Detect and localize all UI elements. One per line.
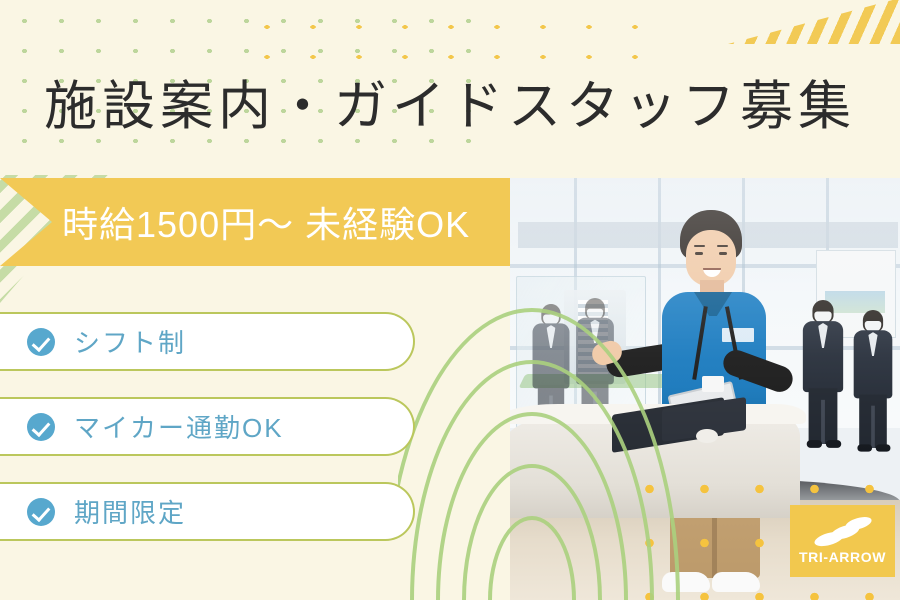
feature-pill-car-commute: マイカー通勤OK [0,397,415,456]
wage-ribbon: 時給1500円〜 未経験OK [0,178,510,266]
check-circle-icon [27,328,55,356]
company-logo-text: TRI-ARROW [799,549,886,565]
company-logo: TRI-ARROW [790,505,895,577]
recruitment-banner: 施設案内・ガイドスタッフ募集 [0,0,900,600]
photo-counter-knob [696,429,718,443]
feature-label: マイカー通勤OK [74,408,284,445]
feature-pill-limited-period: 期間限定 [0,482,415,541]
page-title: 施設案内・ガイドスタッフ募集 [44,80,856,133]
wage-ribbon-text: 時給1500円〜 未経験OK [62,196,470,248]
yellow-dot-pattern [240,8,660,68]
check-circle-icon [27,498,55,526]
corner-stripes-decoration [728,0,900,44]
feature-pill-shift: シフト制 [0,312,415,371]
tri-arrow-mark-icon [812,517,874,547]
feature-list: シフト制 マイカー通勤OK 期間限定 [0,312,415,567]
check-circle-icon [27,413,55,441]
feature-label: シフト制 [74,323,186,360]
feature-label: 期間限定 [74,493,186,530]
